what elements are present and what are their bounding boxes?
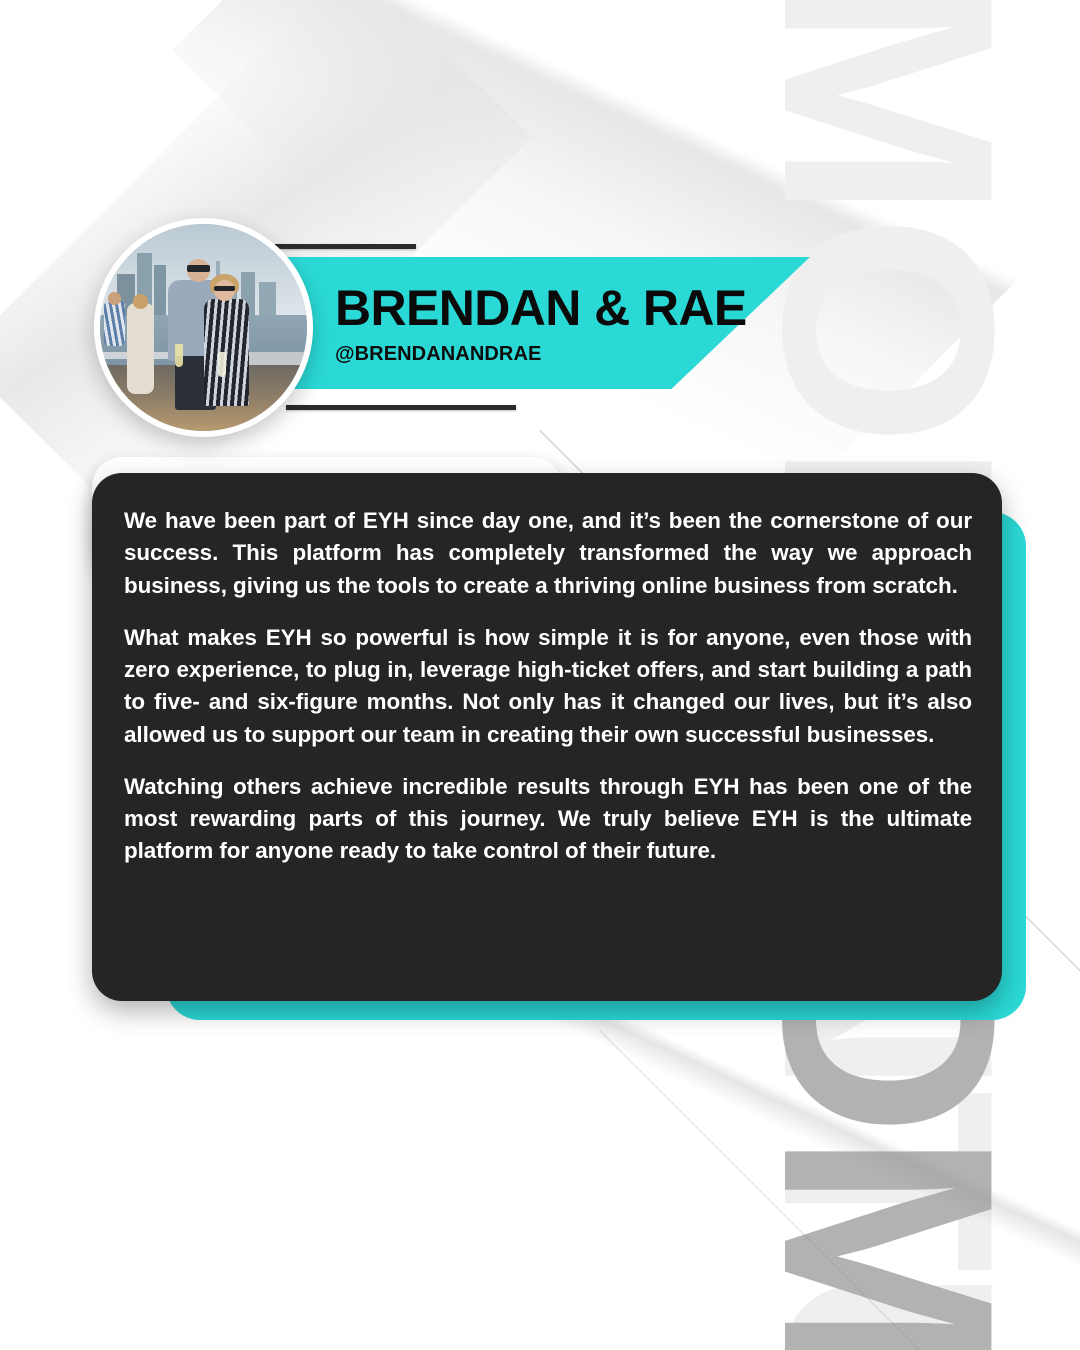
- testimonial-graphic: MOMENTUM MOMENTUM We have been part of E…: [0, 0, 1080, 1350]
- decorative-rule-bottom: [286, 405, 516, 410]
- photo-background-person: [127, 303, 154, 394]
- photo-drink-glass: [175, 344, 183, 367]
- profile-name: BRENDAN & RAE: [335, 283, 747, 333]
- testimonial-card: We have been part of EYH since day one, …: [92, 473, 1002, 1001]
- photo-person-man-sunglasses: [187, 265, 210, 271]
- avatar-photo: [100, 224, 307, 431]
- profile-handle: @BRENDANANDRAE: [335, 343, 747, 366]
- photo-drink-glass: [218, 352, 226, 377]
- photo-person-woman-body: [204, 299, 250, 407]
- photo-background-person-head: [133, 294, 147, 308]
- profile-header: BRENDAN & RAE @BRENDANANDRAE: [0, 0, 1080, 470]
- testimonial-paragraph-2: What makes EYH so powerful is how simple…: [124, 622, 972, 751]
- photo-person-woman-sunglasses: [214, 286, 235, 291]
- photo-background-person: [104, 301, 125, 347]
- testimonial-paragraph-1: We have been part of EYH since day one, …: [124, 505, 972, 602]
- testimonial-paragraph-3: Watching others achieve incredible resul…: [124, 771, 972, 868]
- name-banner-text: BRENDAN & RAE @BRENDANANDRAE: [335, 283, 747, 366]
- photo-building: [259, 282, 276, 319]
- avatar: [94, 218, 313, 437]
- photo-building: [154, 265, 166, 319]
- photo-background-person-head: [108, 292, 120, 304]
- testimonial-text: We have been part of EYH since day one, …: [124, 505, 972, 868]
